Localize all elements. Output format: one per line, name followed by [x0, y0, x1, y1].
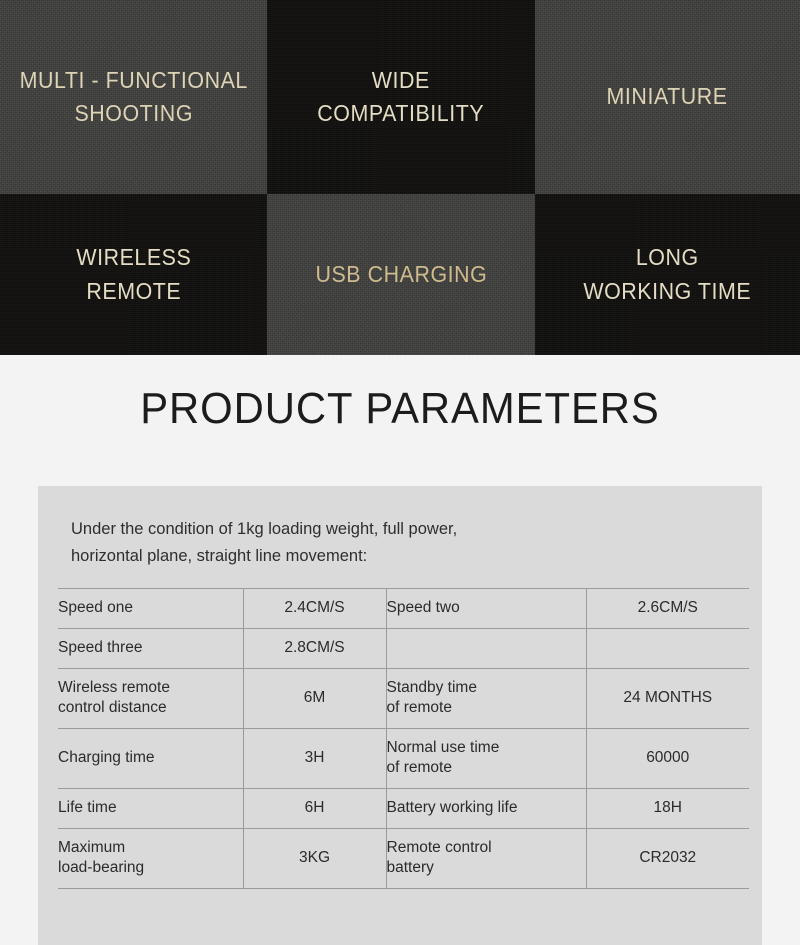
feature-tile-label: MULTI - FUNCTIONAL SHOOTING [19, 64, 247, 131]
feature-tile-usb-charging[interactable]: USB CHARGING [267, 194, 535, 355]
page-title: PRODUCT PARAMETERS [20, 355, 780, 434]
specification-panel: Under the condition of 1kg loading weigh… [38, 486, 762, 945]
spec-value: 2.6CM/S [586, 589, 749, 629]
spec-label: Standby time of remote [386, 668, 586, 728]
spec-label: Life time [58, 789, 243, 829]
spec-value: 2.4CM/S [243, 589, 386, 629]
feature-tile-label: WIRELESS REMOTE [76, 241, 191, 308]
feature-tile-wireless-remote[interactable]: WIRELESS REMOTE [0, 194, 267, 355]
table-row: Speed three 2.8CM/S [58, 629, 749, 669]
table-row: Speed one 2.4CM/S Speed two 2.6CM/S [58, 589, 749, 629]
panel-intro-text: Under the condition of 1kg loading weigh… [38, 486, 762, 569]
spec-label: Speed three [58, 629, 243, 669]
feature-tile-grid: MULTI - FUNCTIONAL SHOOTING WIDE COMPATI… [0, 0, 800, 355]
spec-value: 6M [243, 668, 386, 728]
feature-tile-wide-compatibility[interactable]: WIDE COMPATIBILITY [267, 0, 535, 194]
feature-tile-multi-functional-shooting[interactable]: MULTI - FUNCTIONAL SHOOTING [0, 0, 267, 194]
feature-tile-label: LONG WORKING TIME [584, 241, 752, 308]
spec-label: Normal use time of remote [386, 728, 586, 788]
table-row: Charging time 3H Normal use time of remo… [58, 728, 749, 788]
spec-label: Speed one [58, 589, 243, 629]
feature-tile-long-working-time[interactable]: LONG WORKING TIME [535, 194, 800, 355]
spec-value: 3KG [243, 828, 386, 888]
feature-tile-label: WIDE COMPATIBILITY [318, 64, 485, 131]
table-row: Maximum load-bearing 3KG Remote control … [58, 828, 749, 888]
spec-value: 2.8CM/S [243, 629, 386, 669]
spec-value: 3H [243, 728, 386, 788]
spec-label: Remote control battery [386, 828, 586, 888]
spec-label: Charging time [58, 728, 243, 788]
feature-tile-row-bottom: WIRELESS REMOTE USB CHARGING LONG WORKIN… [0, 194, 800, 355]
table-row: Life time 6H Battery working life 18H [58, 789, 749, 829]
spec-value: 24 MONTHS [586, 668, 749, 728]
spec-value: CR2032 [586, 828, 749, 888]
spec-label: Battery working life [386, 789, 586, 829]
table-row: Wireless remote control distance 6M Stan… [58, 668, 749, 728]
feature-tile-row-top: MULTI - FUNCTIONAL SHOOTING WIDE COMPATI… [0, 0, 800, 194]
spec-label: Speed two [386, 589, 586, 629]
spec-label [386, 629, 586, 669]
spec-value [586, 629, 749, 669]
spec-value: 60000 [586, 728, 749, 788]
feature-tile-miniature[interactable]: MINIATURE [535, 0, 800, 194]
spec-value: 18H [586, 789, 749, 829]
feature-tile-label: USB CHARGING [315, 258, 487, 291]
feature-tile-label: MINIATURE [607, 80, 728, 113]
specification-table: Speed one 2.4CM/S Speed two 2.6CM/S Spee… [58, 588, 749, 888]
spec-value: 6H [243, 789, 386, 829]
spec-label: Wireless remote control distance [58, 668, 243, 728]
spec-label: Maximum load-bearing [58, 828, 243, 888]
